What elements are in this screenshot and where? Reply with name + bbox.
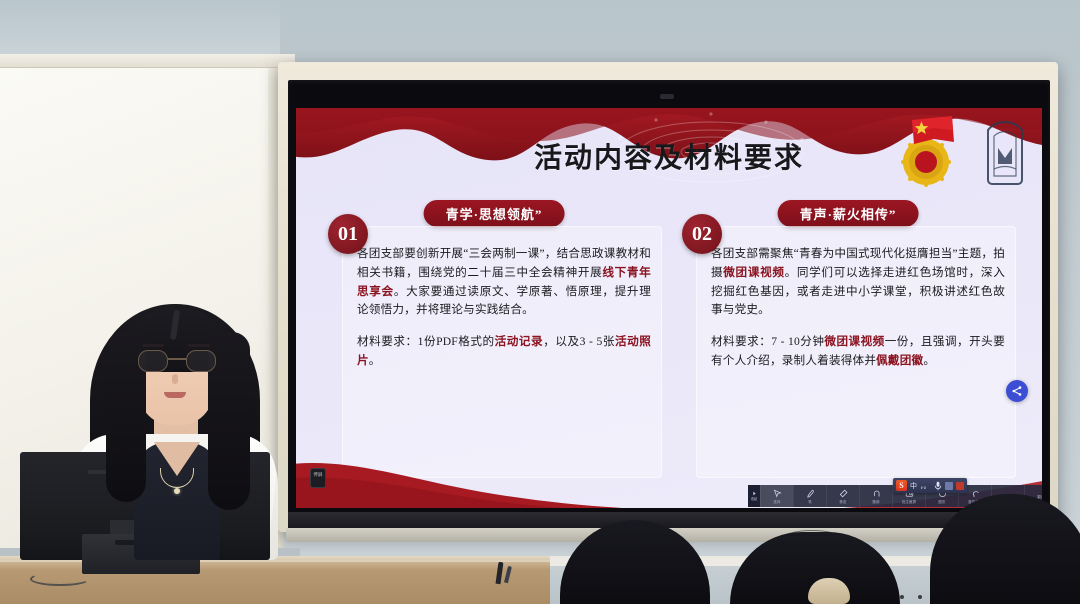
ime-punctuation-mode[interactable]: ，。 — [920, 481, 931, 491]
toolbar-collapse-handle[interactable]: 收起 — [748, 485, 760, 507]
presenter-eyebrow-left — [142, 344, 164, 347]
floating-assistant-button[interactable] — [1006, 380, 1028, 402]
presenter-mouth — [164, 392, 186, 398]
highlight-run: 活动记录 — [495, 335, 544, 348]
sogou-logo-icon[interactable]: S — [896, 480, 907, 491]
text-run: ，以及3 - 5张 — [543, 335, 615, 348]
undo-icon — [872, 489, 881, 498]
ceiling-trim — [0, 54, 295, 68]
text-run: 。 — [923, 354, 935, 367]
presentation-slide[interactable]: 活动内容及材料要求 — [296, 108, 1042, 508]
column-number-badge: 01 — [328, 214, 368, 254]
presenter-pendant — [174, 488, 180, 494]
glasses-lens-left — [138, 350, 168, 372]
glasses-bridge — [168, 358, 186, 360]
share-icon — [1011, 385, 1023, 397]
student-head-left — [560, 520, 710, 604]
sogou-input-method-bar[interactable]: S 中 ，。 — [893, 478, 967, 493]
slide-emblems — [890, 114, 1026, 192]
presenter-nose — [172, 374, 178, 384]
text-run: 。大家要通过读原文、学原著、悟原理，提升理论领悟力，并将理论与实践结合。 — [357, 285, 651, 317]
presenter-glasses — [134, 350, 220, 372]
toolbar-item-label: 撤销 — [872, 499, 879, 504]
toolbar-collapse-label: 收起 — [751, 496, 757, 501]
ime-language-mode[interactable]: 中 — [910, 481, 917, 491]
glasses-lens-right — [186, 350, 216, 372]
paragraph: 材料要求：1份PDF格式的活动记录，以及3 - 5张活动照片。 — [357, 333, 651, 371]
toolbar-item-label: 选择 — [773, 499, 780, 504]
paragraph: 材料要求：7 - 10分钟微团课视频一份，且强调，开头要有个人介绍，录制人着装得… — [711, 333, 1005, 371]
paragraph: 各团支部要创新开展“三会两制一课”，结合思政课教材和相关书籍，围绕党的二十届三中… — [357, 245, 651, 320]
pen-icon — [806, 489, 815, 498]
highlight-run: 微团课视频 — [824, 335, 884, 348]
slide-column-1: 青学·思想领航” 01 各团支部要创新开展“三会两制一课”，结合思政课教材和相关… — [326, 200, 662, 478]
text-run: 材料要求：7 - 10分钟 — [711, 335, 824, 348]
keyboard-icon[interactable] — [945, 482, 953, 490]
toolbox-icon[interactable] — [956, 482, 964, 490]
university-seal-emblem — [988, 122, 1022, 184]
cursor-select-icon — [773, 489, 782, 498]
toolbar-item-label: 笔 — [808, 499, 812, 504]
slide-columns: 青学·思想领航” 01 各团支部要创新开展“三会两制一课”，结合思政课教材和相关… — [326, 200, 1016, 478]
highlight-run: 佩戴团徽 — [876, 354, 923, 367]
student-head-right — [930, 494, 1080, 604]
text-run: 。 — [369, 354, 381, 367]
presenter-eyebrow-right — [188, 344, 210, 347]
column-ribbon-title: 青声·薪火相传” — [778, 200, 919, 227]
toolbar-item-label: 批注截屏 — [902, 499, 916, 504]
column-ribbon-title: 青学·思想领航” — [424, 200, 565, 227]
student-hair — [930, 494, 1080, 604]
highlight-run: 微团课视频 — [723, 266, 784, 279]
toolbar-item-eraser[interactable]: 橡皮 — [826, 485, 859, 507]
microphone-icon[interactable] — [934, 481, 942, 491]
toolbar-item-label: 橡皮 — [839, 499, 846, 504]
slide-column-2: 青声·薪火相传” 02 各团支部需聚焦“青春为中国式现代化挺膺担当”主题，拍摄微… — [680, 200, 1016, 478]
smartboard-camera-icon — [660, 94, 674, 99]
student-hair-wisp — [782, 530, 842, 548]
toolbar-item-select[interactable]: 选择 — [760, 485, 793, 507]
toolbar-item-undo[interactable]: 撤销 — [859, 485, 892, 507]
monitor-cable — [30, 572, 90, 586]
classroom-scene: 活动内容及材料要求 — [0, 0, 1080, 604]
communist-youth-league-emblem — [901, 116, 954, 187]
paragraph: 各团支部需聚焦“青春为中国式现代化挺膺担当”主题，拍摄微团课视频。同学们可以选择… — [711, 245, 1005, 320]
student-hair — [560, 520, 710, 604]
text-run: 材料要求：1份PDF格式的 — [357, 335, 495, 348]
student-head-center — [730, 532, 900, 604]
eraser-icon — [839, 489, 848, 498]
slide-transfer-button[interactable]: 传屏 — [310, 468, 326, 488]
toolbar-item-pen[interactable]: 笔 — [793, 485, 826, 507]
column-number-badge: 02 — [682, 214, 722, 254]
